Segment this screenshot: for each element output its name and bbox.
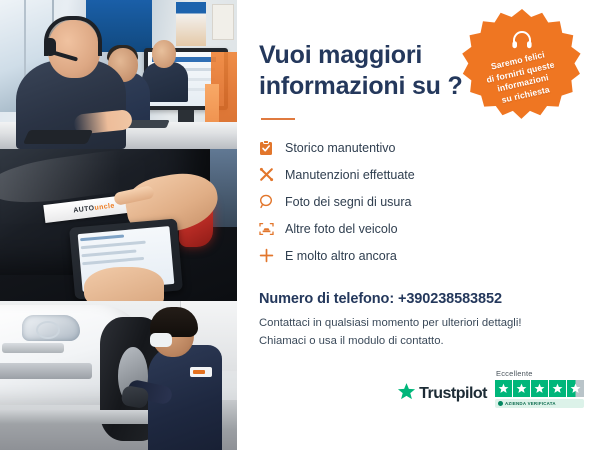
list-item-label: Foto dei segni di usura xyxy=(285,195,411,209)
list-item: Storico manutentivo xyxy=(259,134,578,161)
list-item: Altre foto del veicolo xyxy=(259,215,578,242)
mechanic-face-mask xyxy=(150,333,172,347)
desk-tablet xyxy=(23,130,93,144)
clipboard-check-icon xyxy=(259,140,285,156)
star-icon xyxy=(531,380,548,397)
trustpilot-rating: Eccellente xyxy=(495,369,584,408)
content-panel: Vuoi maggiori informazioni su ? Storico … xyxy=(237,0,600,450)
mechanic-wheel-inspection-photo xyxy=(0,301,237,450)
car-upper-grille xyxy=(2,343,64,353)
contact-note: Contattaci in qualsiasi momento per ulte… xyxy=(259,315,578,350)
trustpilot-star-icon xyxy=(397,382,416,406)
trustpilot-wordmark: Trustpilot xyxy=(419,385,487,403)
star-icon xyxy=(513,380,530,397)
call-center-operators-photo xyxy=(0,0,237,149)
photo-column: AUTOuncle xyxy=(0,0,237,450)
list-item-label: Manutenzioni effettuate xyxy=(285,168,415,182)
phone-number[interactable]: Numero di telefono: +390238583852 xyxy=(259,291,578,307)
trustpilot-widget[interactable]: Trustpilot Eccellente xyxy=(397,369,584,408)
plus-icon xyxy=(259,248,285,263)
star-icon xyxy=(495,380,512,397)
tools-cross-icon xyxy=(259,167,285,182)
headline-line-2: informazioni su ? xyxy=(259,72,463,100)
feature-list: Storico manutentivo Manutenzioni effettu… xyxy=(259,134,578,269)
advertisement-card: AUTOuncle xyxy=(0,0,600,450)
technician-hand-lower xyxy=(84,267,164,301)
badge-starburst-shape xyxy=(461,6,583,128)
contact-note-line-2: Chiamaci o usa il modulo di contatto. xyxy=(259,333,578,351)
verified-badge: AZIENDA VERIFICATA xyxy=(495,399,584,408)
wall-poster xyxy=(176,2,206,46)
headline-line-1: Vuoi maggiori xyxy=(259,41,422,69)
vehicle-lift-platform xyxy=(0,410,150,424)
star-icon xyxy=(549,380,566,397)
list-item-label: Storico manutentivo xyxy=(285,141,395,155)
vehicle-label-tablet-photo: AUTOuncle xyxy=(0,149,237,301)
trustpilot-logo: Trustpilot xyxy=(397,382,487,408)
contact-note-line-1: Contattaci in qualsiasi momento per ulte… xyxy=(259,315,578,333)
verified-check-icon xyxy=(498,401,503,406)
background-worker-head xyxy=(152,40,176,68)
list-item: E molto altro ancora xyxy=(259,242,578,269)
car-lower-grille xyxy=(0,363,92,379)
page-title: Vuoi maggiori informazioni su ? xyxy=(259,40,464,102)
list-item-label: E molto altro ancora xyxy=(285,249,397,263)
list-item: Manutenzioni effettuate xyxy=(259,161,578,188)
star-icon-half xyxy=(567,380,584,397)
mechanic-uniform-logo xyxy=(190,367,212,377)
list-item-label: Altre foto del veicolo xyxy=(285,222,398,236)
rating-label: Eccellente xyxy=(496,369,584,378)
car-scan-icon xyxy=(259,222,285,236)
rating-stars xyxy=(495,380,584,397)
wall-poster-secondary xyxy=(212,4,234,40)
verified-badge-label: AZIENDA VERIFICATA xyxy=(505,401,556,406)
callout-badge: Saremo felici di fornirti queste informa… xyxy=(461,6,583,126)
car-headlight xyxy=(22,315,80,341)
magnifier-icon xyxy=(259,194,285,209)
monitor-stand xyxy=(178,110,194,122)
title-underline-divider xyxy=(261,118,295,120)
list-item: Foto dei segni di usura xyxy=(259,188,578,215)
